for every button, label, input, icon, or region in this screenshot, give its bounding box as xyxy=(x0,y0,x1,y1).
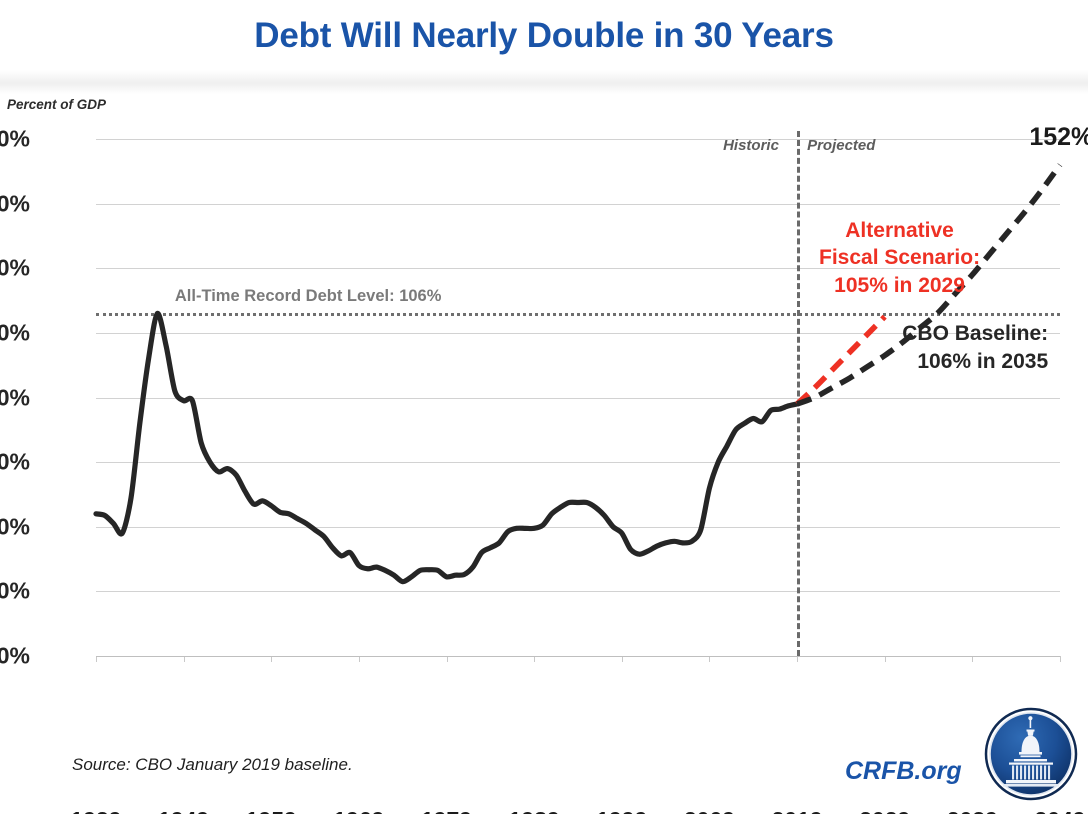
y-axis-tick-label: 60% xyxy=(0,449,30,476)
plot-area: 0%20%40%60%80%100%120%140%160% 193919491… xyxy=(96,139,1060,656)
alternative-scenario-line1: Alternative xyxy=(819,217,980,245)
y-axis-tick-label: 20% xyxy=(0,578,30,605)
x-axis-tick-mark xyxy=(1060,656,1061,662)
cbo-baseline-line1: CBO Baseline: xyxy=(902,320,1048,348)
alternative-scenario-line3: 105% in 2029 xyxy=(819,272,980,300)
endpoint-value-label: 152% xyxy=(1029,123,1088,152)
y-axis-tick-label: 80% xyxy=(0,384,30,411)
cbo-baseline-line2: 106% in 2035 xyxy=(902,348,1048,376)
x-axis-tick-label: 2049 xyxy=(1000,807,1088,814)
alternative-fiscal-scenario-line xyxy=(797,317,885,404)
title-band: Debt Will Nearly Double in 30 Years xyxy=(0,0,1088,86)
brand-wordmark: CRFB.org xyxy=(845,757,962,786)
title-band-divider xyxy=(0,70,1088,94)
historic-debt-line xyxy=(96,313,797,581)
alternative-scenario-annotation: Alternative Fiscal Scenario: 105% in 202… xyxy=(819,217,980,301)
cbo-baseline-annotation: CBO Baseline: 106% in 2035 xyxy=(902,320,1048,377)
chart-page: Debt Will Nearly Double in 30 Years Perc… xyxy=(0,0,1088,814)
y-axis-tick-label: 140% xyxy=(0,190,30,217)
y-axis-tick-label: 40% xyxy=(0,513,30,540)
alternative-scenario-line2: Fiscal Scenario: xyxy=(819,244,980,272)
y-axis-tick-label: 160% xyxy=(0,126,30,153)
y-axis-tick-label: 100% xyxy=(0,319,30,346)
y-axis-tick-label: 0% xyxy=(0,643,30,670)
y-axis-unit-label: Percent of GDP xyxy=(7,97,106,112)
y-axis-tick-label: 120% xyxy=(0,255,30,282)
source-note: Source: CBO January 2019 baseline. xyxy=(72,755,353,775)
crfb-capitol-logo-icon xyxy=(983,706,1079,802)
page-title: Debt Will Nearly Double in 30 Years xyxy=(0,16,1088,56)
x-axis-line xyxy=(96,656,1060,657)
